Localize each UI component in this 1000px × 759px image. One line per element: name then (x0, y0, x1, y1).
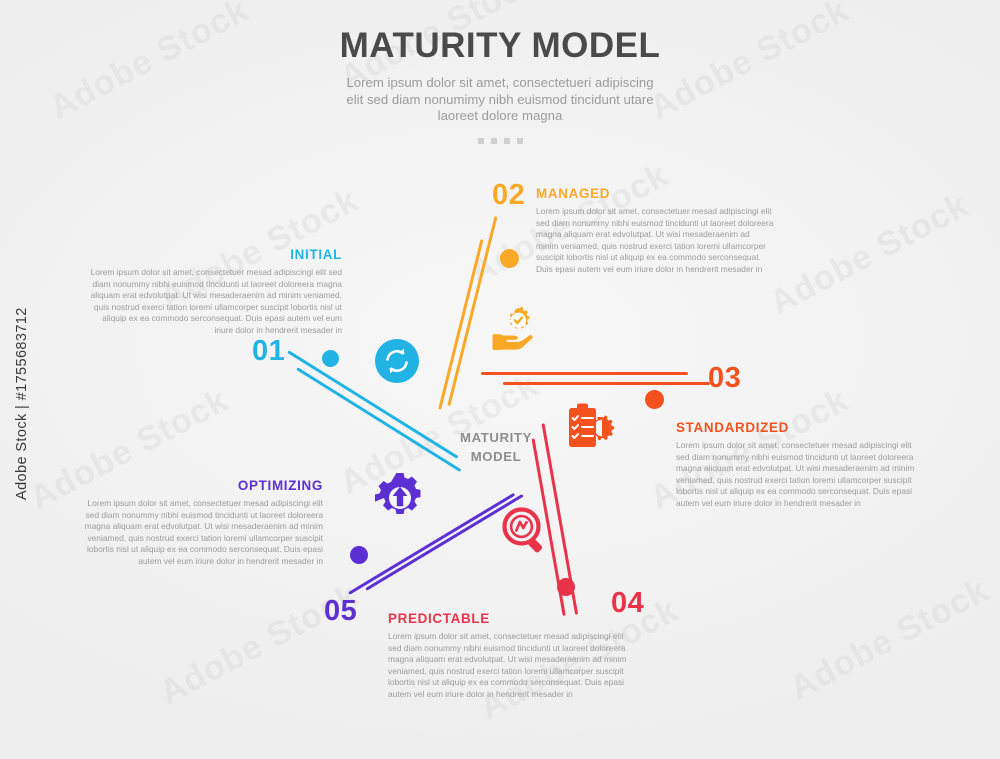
step-number-optimizing: 05 (324, 597, 357, 626)
step-body-initial: Lorem ipsum dolor sit amet, consectetuer… (90, 267, 342, 337)
step-body-predictable: Lorem ipsum dolor sit amet, consectetuer… (388, 631, 628, 701)
connector-line-initial (287, 350, 458, 459)
header-dot (504, 138, 510, 144)
accent-dot-initial (322, 350, 339, 367)
step-title-managed: MANAGED (536, 186, 774, 201)
watermark-tile: Adobe Stock (764, 186, 976, 323)
infographic-canvas: Adobe Stock Adobe Stock Adobe Stock Adob… (0, 0, 1000, 759)
magnifier-analytics-icon (502, 507, 550, 560)
watermark-tile: Adobe Stock (784, 571, 996, 708)
step-title-standardized: STANDARDIZED (676, 420, 916, 435)
hand-gear-check-icon (488, 306, 540, 359)
step-number-predictable: 04 (611, 589, 644, 618)
adobe-stock-watermark: Adobe Stock | #1755683712 (14, 307, 30, 500)
step-title-predictable: PREDICTABLE (388, 611, 628, 626)
gear-up-arrow-icon (374, 472, 426, 529)
sync-refresh-icon (374, 338, 420, 389)
step-block-initial: INITIAL Lorem ipsum dolor sit amet, cons… (90, 247, 342, 337)
step-body-managed: Lorem ipsum dolor sit amet, consectetuer… (536, 206, 774, 276)
step-title-initial: INITIAL (90, 247, 342, 262)
step-block-predictable: PREDICTABLE Lorem ipsum dolor sit amet, … (388, 611, 628, 701)
header-dot (478, 138, 484, 144)
step-block-managed: MANAGED Lorem ipsum dolor sit amet, cons… (536, 186, 774, 276)
connector-line-standardized (503, 382, 710, 385)
header-dots-decoration (0, 138, 1000, 144)
step-body-standardized: Lorem ipsum dolor sit amet, consectetuer… (676, 440, 916, 510)
header-dot (517, 138, 523, 144)
clipboard-checklist-gear-icon (566, 401, 616, 456)
header-dot (491, 138, 497, 144)
step-block-standardized: STANDARDIZED Lorem ipsum dolor sit amet,… (676, 420, 916, 510)
connector-line-managed (438, 239, 483, 410)
accent-dot-managed (500, 249, 519, 268)
step-body-optimizing: Lorem ipsum dolor sit amet, consectetuer… (78, 498, 323, 568)
accent-dot-optimizing (350, 546, 368, 564)
page-subtitle: Lorem ipsum dolor sit amet, consectetuer… (340, 75, 660, 125)
connector-line-standardized (481, 372, 688, 375)
step-number-initial: 01 (252, 337, 285, 366)
header: MATURITY MODEL Lorem ipsum dolor sit ame… (0, 26, 1000, 144)
accent-dot-predictable (557, 578, 575, 596)
page-title: MATURITY MODEL (0, 26, 1000, 66)
center-label: MATURITY MODEL (436, 428, 556, 466)
step-number-managed: 02 (492, 181, 525, 210)
step-number-standardized: 03 (708, 364, 741, 393)
step-block-optimizing: OPTIMIZING Lorem ipsum dolor sit amet, c… (78, 478, 323, 568)
accent-dot-standardized (645, 390, 664, 409)
step-title-optimizing: OPTIMIZING (78, 478, 323, 493)
